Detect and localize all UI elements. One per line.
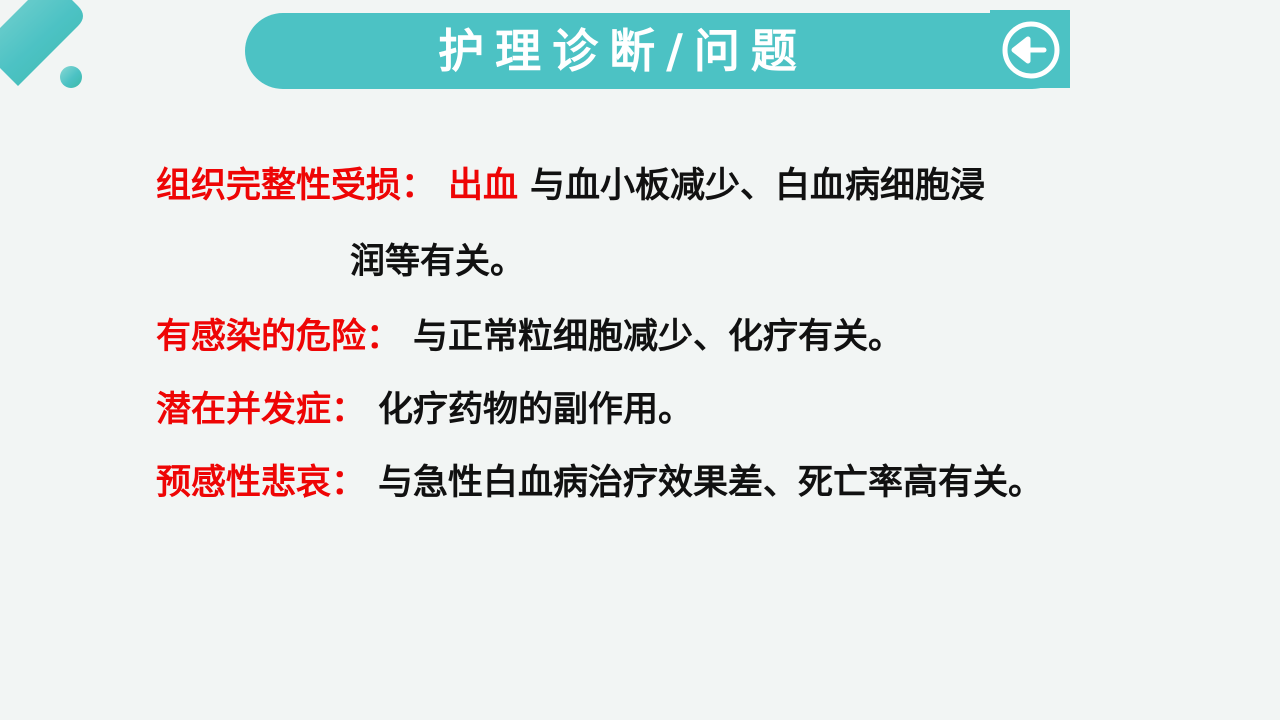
dot-shape <box>60 66 82 88</box>
diagnosis-label-4: 潜在并发症： <box>156 389 366 430</box>
diagnosis-text-3: 与正常粒细胞减少、化疗有关。 <box>413 316 903 357</box>
diagnosis-text-4: 化疗药物的副作用。 <box>378 389 693 430</box>
diagnosis-text-1: 与血小板减少、白血病细胞浸 <box>530 165 985 206</box>
diagnosis-text-5: 与急性白血病治疗效果差、死亡率高有关。 <box>378 462 1043 503</box>
diagnosis-label-5: 预感性悲哀： <box>156 462 366 503</box>
diagnosis-text-2: 润等有关。 <box>350 241 525 282</box>
arrow-left-circle-icon <box>1000 19 1062 81</box>
diagnosis-line-3: 有感染的危险：与正常粒细胞减少、化疗有关。 <box>156 319 1216 354</box>
page-title: 护理诊断/问题 <box>245 13 990 89</box>
diagnosis-line-4: 潜在并发症：化疗药物的副作用。 <box>156 392 1216 427</box>
diagnosis-line-2: 润等有关。 <box>156 244 1216 279</box>
back-button[interactable] <box>992 11 1070 89</box>
diagnosis-line-5: 预感性悲哀：与急性白血病治疗效果差、死亡率高有关。 <box>156 465 1216 500</box>
slide-root: 护理诊断/问题 组织完整性受损：出血与血小板减少、白血病细胞浸 润等有关。 有感… <box>0 0 1280 720</box>
corner-decoration <box>0 0 130 125</box>
diagnosis-label-3: 有感染的危险： <box>156 316 401 357</box>
content-body: 组织完整性受损：出血与血小板减少、白血病细胞浸 润等有关。 有感染的危险：与正常… <box>156 168 1216 500</box>
diagnosis-emphasis-1: 出血 <box>448 165 518 206</box>
chevron-arrow-shape <box>0 0 83 104</box>
diagnosis-label-1: 组织完整性受损： <box>156 165 436 206</box>
diagnosis-line-1: 组织完整性受损：出血与血小板减少、白血病细胞浸 <box>156 168 1216 203</box>
header: 护理诊断/问题 <box>245 13 1070 89</box>
